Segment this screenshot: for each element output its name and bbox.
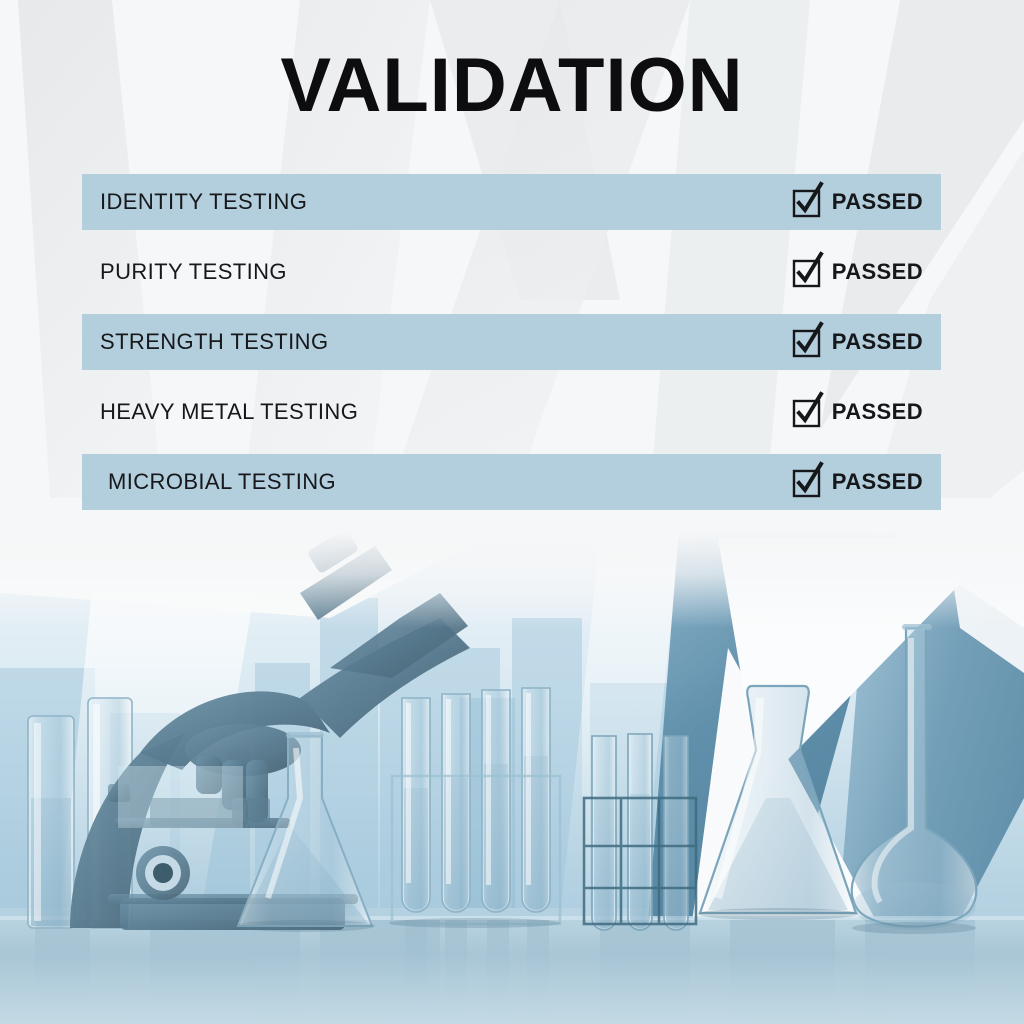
page-title: VALIDATION	[0, 48, 1024, 124]
checkbox-checked-icon[interactable]	[794, 399, 821, 426]
test-name-label: IDENTITY TESTING	[82, 189, 307, 215]
test-name-label: PURITY TESTING	[82, 259, 287, 285]
test-tube-rack-right	[584, 734, 696, 930]
status-badge: PASSED	[832, 329, 923, 355]
checkbox-checked-icon[interactable]	[794, 469, 821, 496]
checkbox-checked-icon[interactable]	[794, 189, 821, 216]
status-badge: PASSED	[832, 189, 923, 215]
row-status: PASSED	[794, 384, 923, 440]
checkbox-checked-icon[interactable]	[794, 259, 821, 286]
checkbox-checked-icon[interactable]	[794, 329, 821, 356]
status-badge: PASSED	[832, 469, 923, 495]
lab-scene-illustration	[0, 498, 1024, 1024]
row-status: PASSED	[794, 314, 923, 370]
test-name-label: HEAVY METAL TESTING	[82, 399, 358, 425]
table-row[interactable]: MICROBIAL TESTING PASSED	[82, 454, 941, 510]
test-name-label: STRENGTH TESTING	[82, 329, 328, 355]
table-row[interactable]: IDENTITY TESTING PASSED	[82, 174, 941, 230]
row-status: PASSED	[794, 174, 923, 230]
validation-poster: VALIDATION IDENTITY TESTING PASSED PURIT…	[0, 0, 1024, 1024]
laboratory-photo	[0, 498, 1024, 1024]
graduated-cylinder	[28, 716, 74, 928]
table-row[interactable]: PURITY TESTING PASSED	[82, 244, 941, 300]
validation-checklist: IDENTITY TESTING PASSED PURITY TESTING	[82, 174, 941, 524]
status-badge: PASSED	[832, 399, 923, 425]
table-row[interactable]: HEAVY METAL TESTING PASSED	[82, 384, 941, 440]
table-row[interactable]: STRENGTH TESTING PASSED	[82, 314, 941, 370]
row-status: PASSED	[794, 244, 923, 300]
status-badge: PASSED	[832, 259, 923, 285]
row-status: PASSED	[794, 454, 923, 510]
test-name-label: MICROBIAL TESTING	[82, 469, 336, 495]
